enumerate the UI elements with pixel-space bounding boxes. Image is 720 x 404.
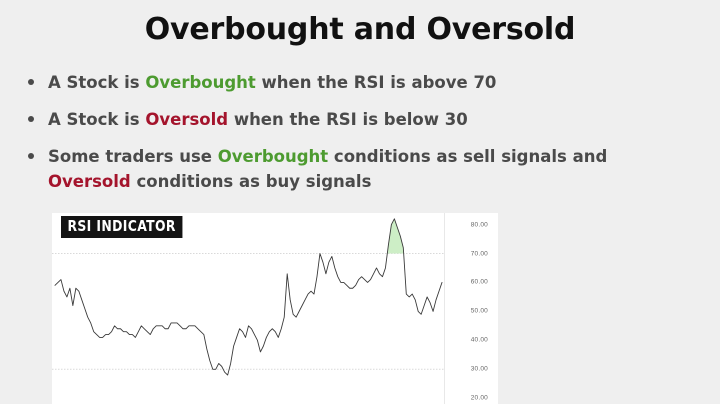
keyword-oversold: Oversold — [145, 110, 228, 129]
rsi-plot-area — [52, 213, 444, 404]
y-tick-label: 70.00 — [471, 250, 488, 257]
chart-title-badge: RSI INDICATOR — [61, 216, 182, 238]
y-tick-label: 20.00 — [471, 395, 488, 402]
bullet-signals: Some traders use Overbought conditions a… — [26, 144, 626, 194]
bullet-text: when the RSI is above 70 — [256, 73, 497, 92]
bullet-list: A Stock is Overbought when the RSI is ab… — [26, 70, 626, 206]
page-title: Overbought and Oversold — [0, 12, 720, 47]
bullet-text: conditions as sell signals and — [328, 147, 607, 166]
bullet-text: conditions as buy signals — [131, 172, 372, 191]
rsi-chart-panel: RSI INDICATOR 80.0070.0060.0050.0040.003… — [52, 213, 498, 404]
keyword-overbought: Overbought — [145, 73, 255, 92]
rsi-line-chart — [52, 213, 444, 404]
bullet-dot-icon — [28, 153, 34, 159]
bullet-text: A Stock is — [48, 73, 145, 92]
y-tick-label: 30.00 — [471, 366, 488, 373]
y-tick-label: 80.00 — [471, 221, 488, 228]
rsi-series-line — [55, 219, 442, 375]
y-tick-label: 40.00 — [471, 337, 488, 344]
bullet-text: when the RSI is below 30 — [228, 110, 468, 129]
y-tick-label: 50.00 — [471, 308, 488, 315]
bullet-oversold: A Stock is Oversold when the RSI is belo… — [26, 107, 626, 132]
bullet-dot-icon — [28, 79, 34, 85]
bullet-dot-icon — [28, 116, 34, 122]
bullet-overbought: A Stock is Overbought when the RSI is ab… — [26, 70, 626, 95]
y-tick-label: 60.00 — [471, 279, 488, 286]
y-axis-labels: 80.0070.0060.0050.0040.0030.0020.00 — [442, 213, 494, 404]
keyword-overbought: Overbought — [218, 147, 328, 166]
keyword-oversold: Oversold — [48, 172, 131, 191]
slide-canvas: Overbought and Oversold A Stock is Overb… — [0, 0, 720, 404]
bullet-text: A Stock is — [48, 110, 145, 129]
bullet-text: Some traders use — [48, 147, 218, 166]
